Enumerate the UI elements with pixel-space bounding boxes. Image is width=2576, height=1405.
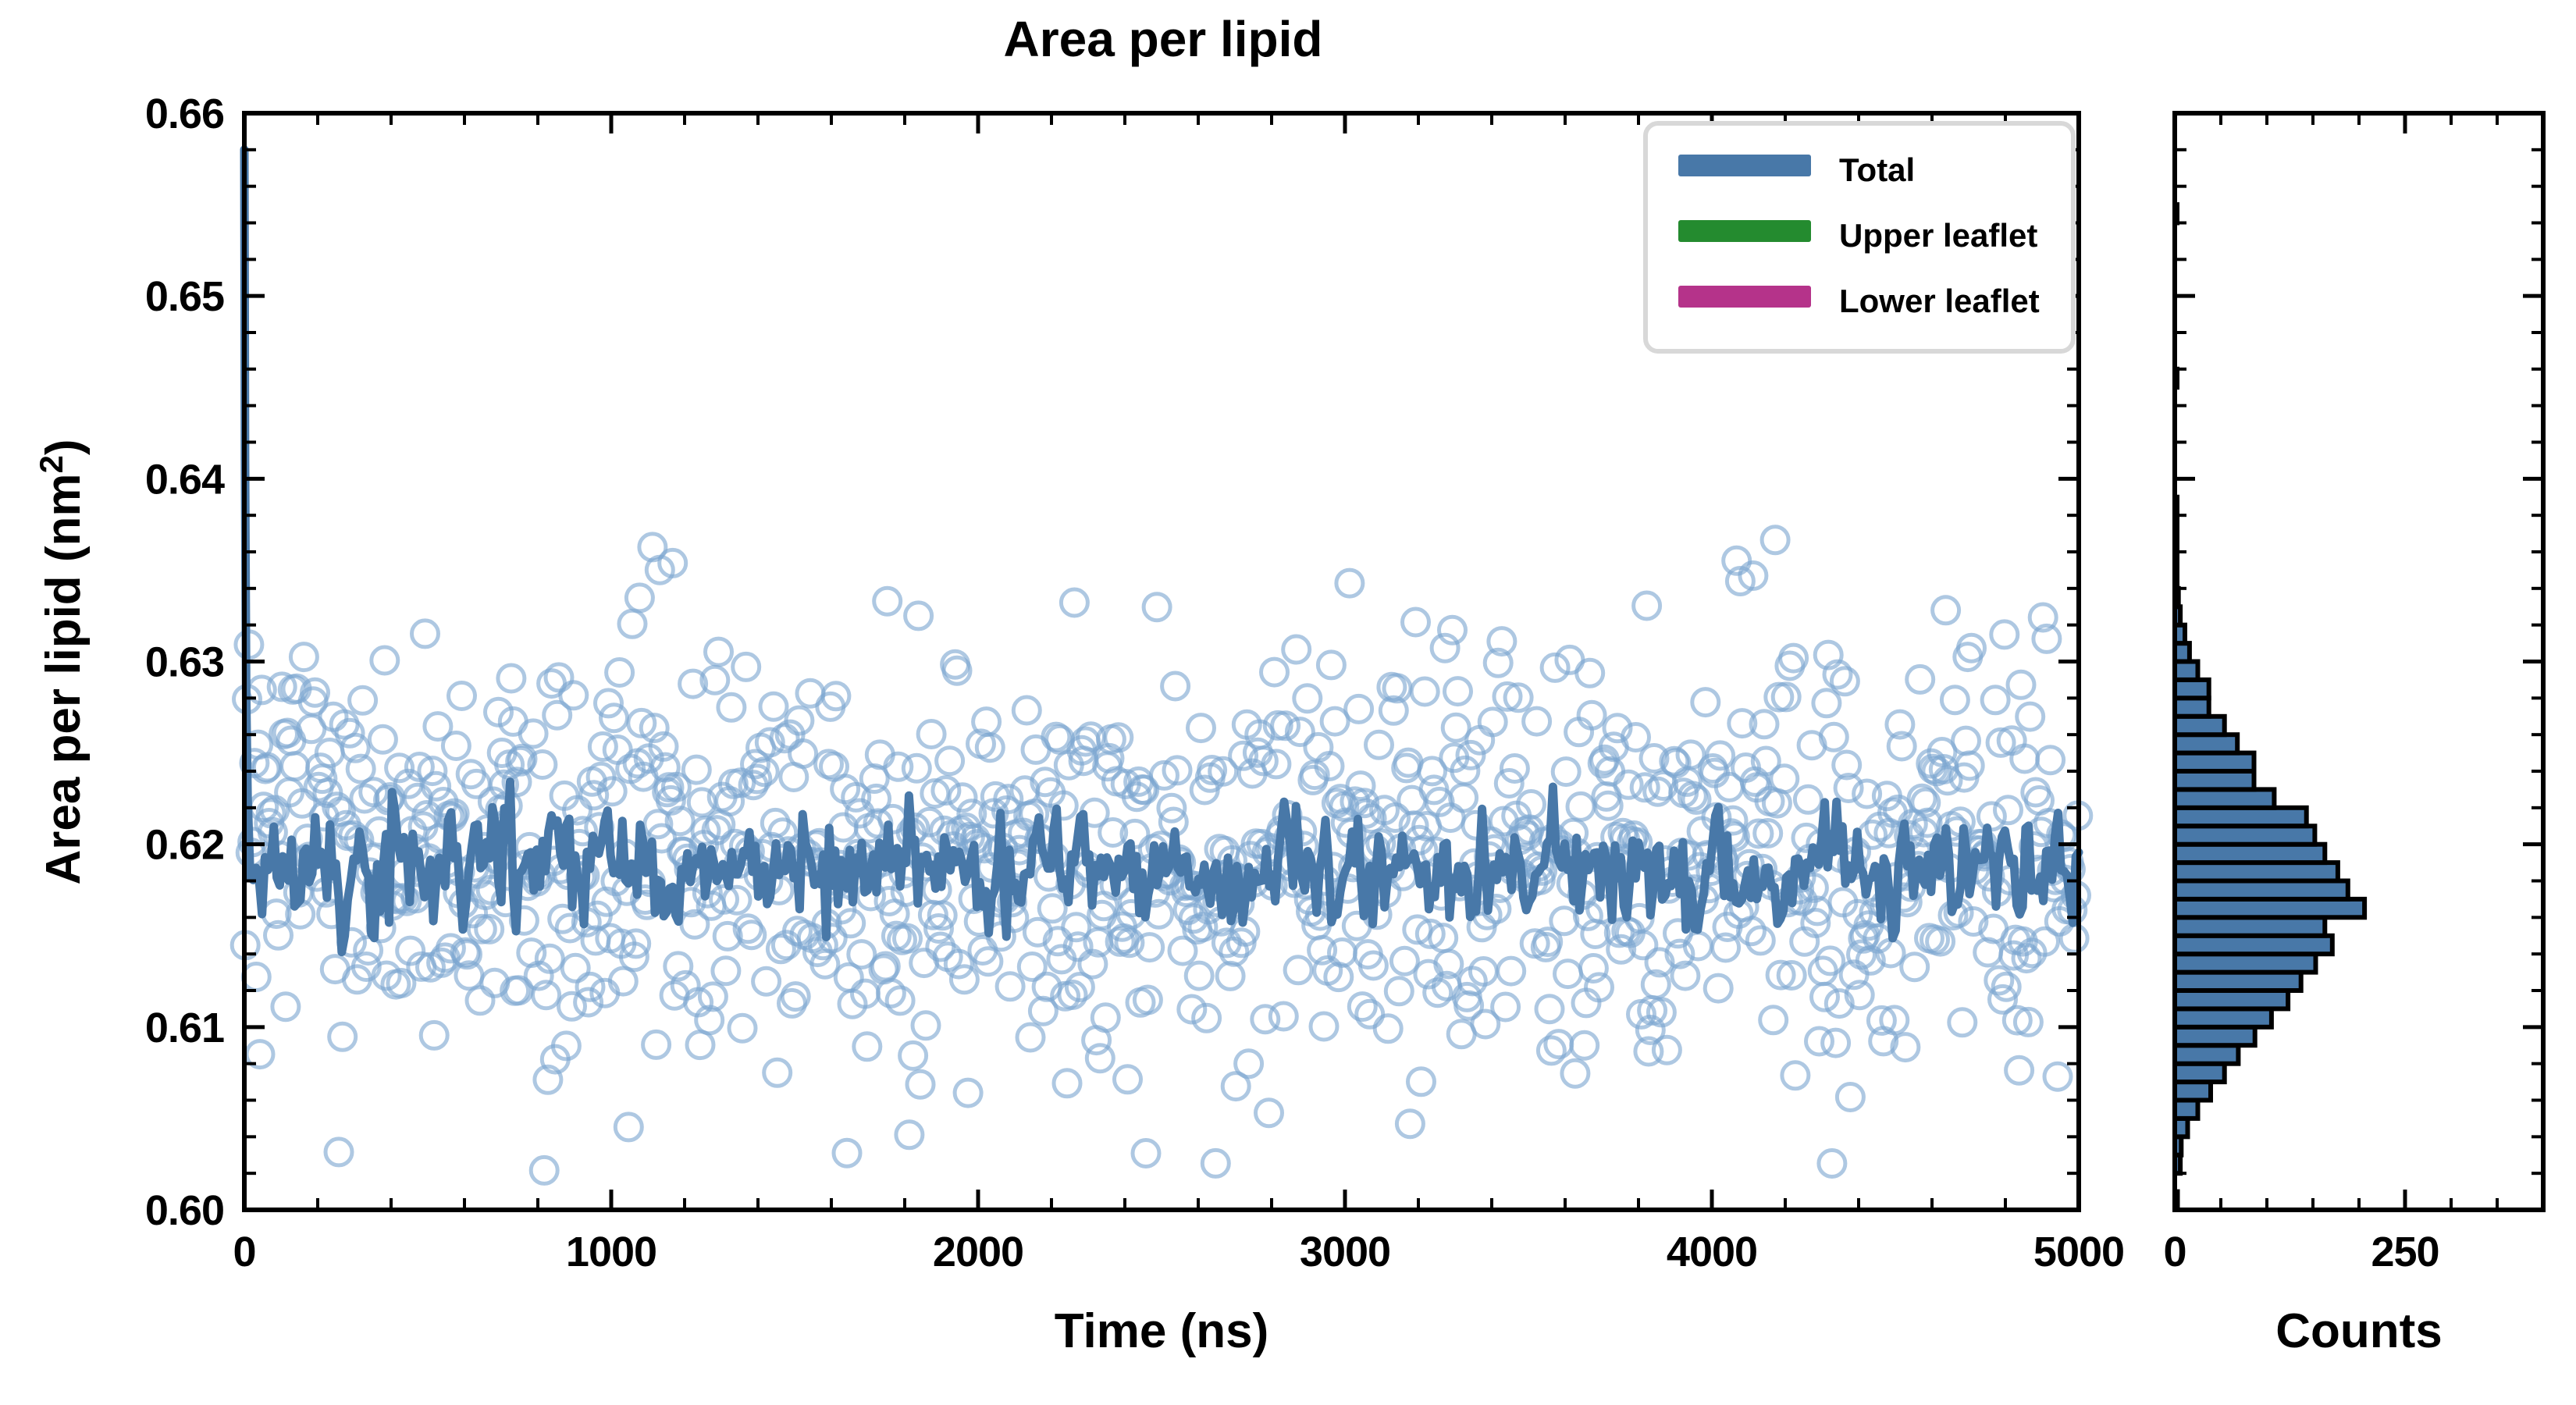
scatter-point [329, 1023, 356, 1050]
scatter-point [643, 1031, 670, 1058]
scatter-point [1524, 708, 1550, 735]
legend-label-lower-leaflet[interactable]: Lower leaflet [1839, 283, 2040, 319]
histogram-bar [2175, 863, 2338, 880]
scatter-point [1995, 797, 2022, 823]
scatter-point [1013, 697, 1040, 724]
histogram-bar [2175, 1064, 2225, 1082]
scatter-point [1982, 687, 2008, 713]
scatter-point [546, 664, 572, 691]
scatter-point [1907, 666, 1934, 692]
scatter-point [906, 603, 932, 629]
scatter-point [1285, 957, 1311, 983]
x-tick-label: 5000 [2033, 1229, 2124, 1275]
scatter-point [1366, 731, 1393, 758]
scatter-point [1403, 609, 1429, 635]
scatter-point [1813, 690, 1840, 717]
scatter-point [1837, 1084, 1863, 1111]
scatter-point [2008, 671, 2034, 698]
legend-swatch-lower-leaflet [1678, 286, 1811, 308]
scatter-point [1653, 1037, 1680, 1063]
scatter-point [421, 1022, 447, 1048]
scatter-point [951, 966, 977, 993]
scatter-point [1634, 592, 1660, 619]
scatter-point [1933, 597, 1959, 624]
scatter-point [1555, 961, 1582, 987]
scatter-point [1408, 1069, 1435, 1095]
scatter-point [412, 621, 439, 647]
hist-x-tick-label: 250 [2371, 1229, 2439, 1275]
x-tick-label: 2000 [933, 1229, 1023, 1275]
scatter-point [1311, 1013, 1337, 1040]
scatter-point [626, 585, 653, 611]
scatter-point [2037, 747, 2064, 774]
scatter-point [1782, 1062, 1809, 1089]
scatter-point [1902, 954, 1928, 980]
scatter-point [2044, 1063, 2071, 1090]
scatter-point [1092, 1005, 1119, 1031]
scatter-point [1771, 766, 1798, 792]
scatter-point [290, 644, 317, 670]
scatter-point [243, 964, 269, 991]
scatter-point [1217, 962, 1244, 989]
histogram-axes: 0250 Counts [2163, 113, 2543, 1358]
x-axis-label: Time (ns) [1055, 1304, 1268, 1358]
scatter-point [1115, 1066, 1141, 1093]
scatter-point [1144, 594, 1170, 621]
scatter-point [937, 748, 963, 774]
scatter-point [1349, 994, 1375, 1020]
scatter-point [369, 726, 396, 752]
scatter-point [874, 588, 901, 614]
scatter-point [607, 660, 633, 686]
scatter-point [449, 683, 475, 710]
scatter-point [562, 955, 589, 981]
x-tick-label: 4000 [1667, 1229, 1757, 1275]
scatter-point [1202, 1150, 1229, 1176]
histogram-bar [2175, 1045, 2238, 1063]
scatter-point [1562, 1060, 1589, 1087]
scatter-point [2061, 925, 2087, 951]
scatter-point [615, 1114, 642, 1140]
scatter-point [1941, 687, 1968, 713]
scatter-point [1357, 1001, 1383, 1027]
scatter-point [903, 755, 930, 781]
scatter-point [896, 1122, 923, 1148]
histogram-bar [2175, 771, 2254, 789]
scatter-point [1692, 689, 1719, 716]
y-tick-label: 0.63 [145, 639, 224, 686]
y-tick-label: 0.66 [145, 91, 224, 137]
legend[interactable]: TotalUpper leafletLower leaflet [1646, 123, 2073, 351]
scatter-point [1270, 1003, 1297, 1030]
scatter-point [1501, 756, 1528, 782]
y-tick-label: 0.62 [145, 822, 224, 869]
scatter-point [913, 1012, 939, 1039]
scatter-point [1386, 978, 1412, 1005]
histogram-bar [2175, 662, 2198, 680]
scatter-point [2017, 703, 2044, 730]
scatter-point [955, 1080, 981, 1106]
scatter-point [1283, 636, 1310, 663]
scatter-point [1553, 759, 1579, 785]
scatter-point [830, 814, 856, 841]
histogram-bar [2175, 680, 2209, 698]
scatter-point [1017, 1024, 1044, 1051]
histogram-bar [2175, 991, 2288, 1008]
y-tick-label: 0.60 [145, 1187, 224, 1234]
histogram-bar [2175, 917, 2325, 935]
scatter-point [706, 638, 732, 665]
scatter-point [272, 994, 299, 1020]
scatter-point [1346, 695, 1372, 722]
scatter-point [336, 720, 363, 746]
histogram-x-axis-label: Counts [2275, 1304, 2443, 1358]
scatter-point [2012, 745, 2038, 772]
histogram-bar [2175, 1008, 2272, 1026]
scatter-point [1061, 589, 1087, 616]
scatter-point [977, 735, 1003, 761]
scatter-point [790, 741, 817, 767]
page-title: Area per lipid [1004, 11, 1323, 67]
histogram-bar [2175, 753, 2254, 771]
scatter-point [854, 1033, 881, 1060]
scatter-point [326, 1139, 352, 1165]
legend-label-upper-leaflet[interactable]: Upper leaflet [1839, 217, 2037, 254]
scatter-point [997, 973, 1023, 1000]
scatter-point [764, 1059, 791, 1086]
scatter-point [1760, 1007, 1787, 1033]
scatter-point [1991, 621, 2018, 648]
scatter-point [467, 987, 493, 1014]
legend-swatch-upper-leaflet [1678, 220, 1811, 242]
scatter-point [1087, 1045, 1113, 1072]
scatter-point [1186, 962, 1212, 989]
figure-canvas: Area per lipid 0100020003000400050000.60… [0, 0, 2576, 1405]
scatter-point [1397, 1111, 1423, 1137]
scatter-point [1823, 1030, 1849, 1056]
scatter-point [1496, 770, 1522, 797]
scatter-point [1538, 1037, 1564, 1064]
scatter-point [1949, 1009, 1976, 1036]
histogram-bar [2175, 826, 2314, 844]
scatter-point [498, 665, 525, 692]
scatter-point [1294, 685, 1321, 712]
scatter-point [1819, 1151, 1845, 1177]
scatter-point [1571, 1032, 1598, 1058]
scatter-point [1567, 793, 1594, 820]
y-tick-label: 0.61 [145, 1005, 224, 1051]
scatter-point [520, 720, 546, 747]
scatter-point [1054, 1070, 1080, 1097]
scatter-point [1762, 527, 1788, 553]
histogram-bar [2175, 1027, 2255, 1045]
scatter-point [1551, 908, 1578, 934]
scatter-point [900, 1042, 927, 1069]
scatter-point [1479, 709, 1506, 735]
scatter-point [1336, 570, 1363, 596]
legend-label-total[interactable]: Total [1839, 151, 1915, 188]
scatter-point [1261, 659, 1288, 685]
scatter-point [1318, 652, 1344, 678]
scatter-point [834, 1140, 860, 1166]
scatter-point [1188, 715, 1215, 742]
scatter-point [1445, 678, 1471, 705]
histogram-tick-labels: 0250 [2163, 1229, 2439, 1275]
x-tick-label: 3000 [1300, 1229, 1390, 1275]
legend-swatch-total [1678, 155, 1811, 176]
histogram-bar [2175, 954, 2316, 972]
scatter-point [683, 756, 710, 783]
scatter-point [1536, 996, 1563, 1023]
scatter-point [1162, 673, 1189, 699]
histogram-bar [2175, 735, 2237, 752]
histogram-bar [2175, 698, 2209, 716]
y-axis-label: Area per lipid (nm2) [33, 439, 91, 884]
scatter-point [753, 968, 780, 994]
scatter-point [1831, 668, 1858, 695]
hist-x-tick-label: 0 [2163, 1229, 2186, 1275]
scatter-point [718, 694, 745, 720]
scatter-point [687, 1032, 713, 1058]
scatter-point [2006, 1057, 2033, 1083]
scatter-point [1577, 660, 1603, 686]
scatter-point [760, 693, 787, 720]
scatter-point [282, 753, 308, 780]
scatter-point [729, 1015, 756, 1041]
scatter-point [372, 647, 398, 674]
x-tick-label: 1000 [566, 1229, 656, 1275]
histogram-bar [2175, 845, 2325, 863]
histogram-bar [2175, 881, 2348, 899]
scatter-point [1705, 975, 1731, 1001]
scatter-point [350, 687, 376, 713]
histogram-bar [2175, 717, 2225, 735]
histogram-bar [2175, 899, 2364, 917]
matplotlib-figure: Area per lipid 0100020003000400050000.60… [0, 0, 2576, 1405]
scatter-point [1133, 1140, 1159, 1167]
scatter-point [1236, 1051, 1262, 1077]
histogram-bars-layer [2175, 205, 2364, 1210]
scatter-point [443, 733, 469, 759]
scatter-point [1256, 1100, 1283, 1126]
scatter-point [1329, 940, 1356, 966]
scatter-point [1375, 1016, 1401, 1042]
histogram-bar [2175, 973, 2301, 991]
scatter-point [1986, 967, 2012, 994]
scatter-point [531, 1157, 557, 1183]
histogram-bar [2175, 1082, 2211, 1100]
scatter-point [1959, 635, 1985, 661]
y-tick-label: 0.64 [145, 456, 225, 503]
y-tick-label: 0.65 [145, 273, 224, 320]
scatter-point [713, 958, 739, 984]
scatter-point [1795, 786, 1821, 813]
scatter-point [560, 682, 587, 709]
x-tick-label: 0 [233, 1229, 255, 1275]
scatter-point [918, 721, 945, 748]
scatter-point [1411, 678, 1438, 705]
scatter-point [1978, 803, 2005, 830]
histogram-bar [2175, 789, 2274, 807]
scatter-point [1493, 994, 1519, 1020]
histogram-bar [2175, 936, 2332, 954]
histogram-bar [2175, 1101, 2198, 1119]
scatter-point [907, 1071, 934, 1097]
scatter-point [1580, 955, 1606, 982]
scatter-point [1546, 1031, 1572, 1058]
scatter-point [619, 610, 646, 637]
histogram-bar [2175, 808, 2307, 826]
scatter-point [1953, 727, 1980, 754]
scatter-point [1039, 895, 1066, 922]
scatter-point [1498, 958, 1525, 984]
scatter-point [733, 653, 760, 680]
